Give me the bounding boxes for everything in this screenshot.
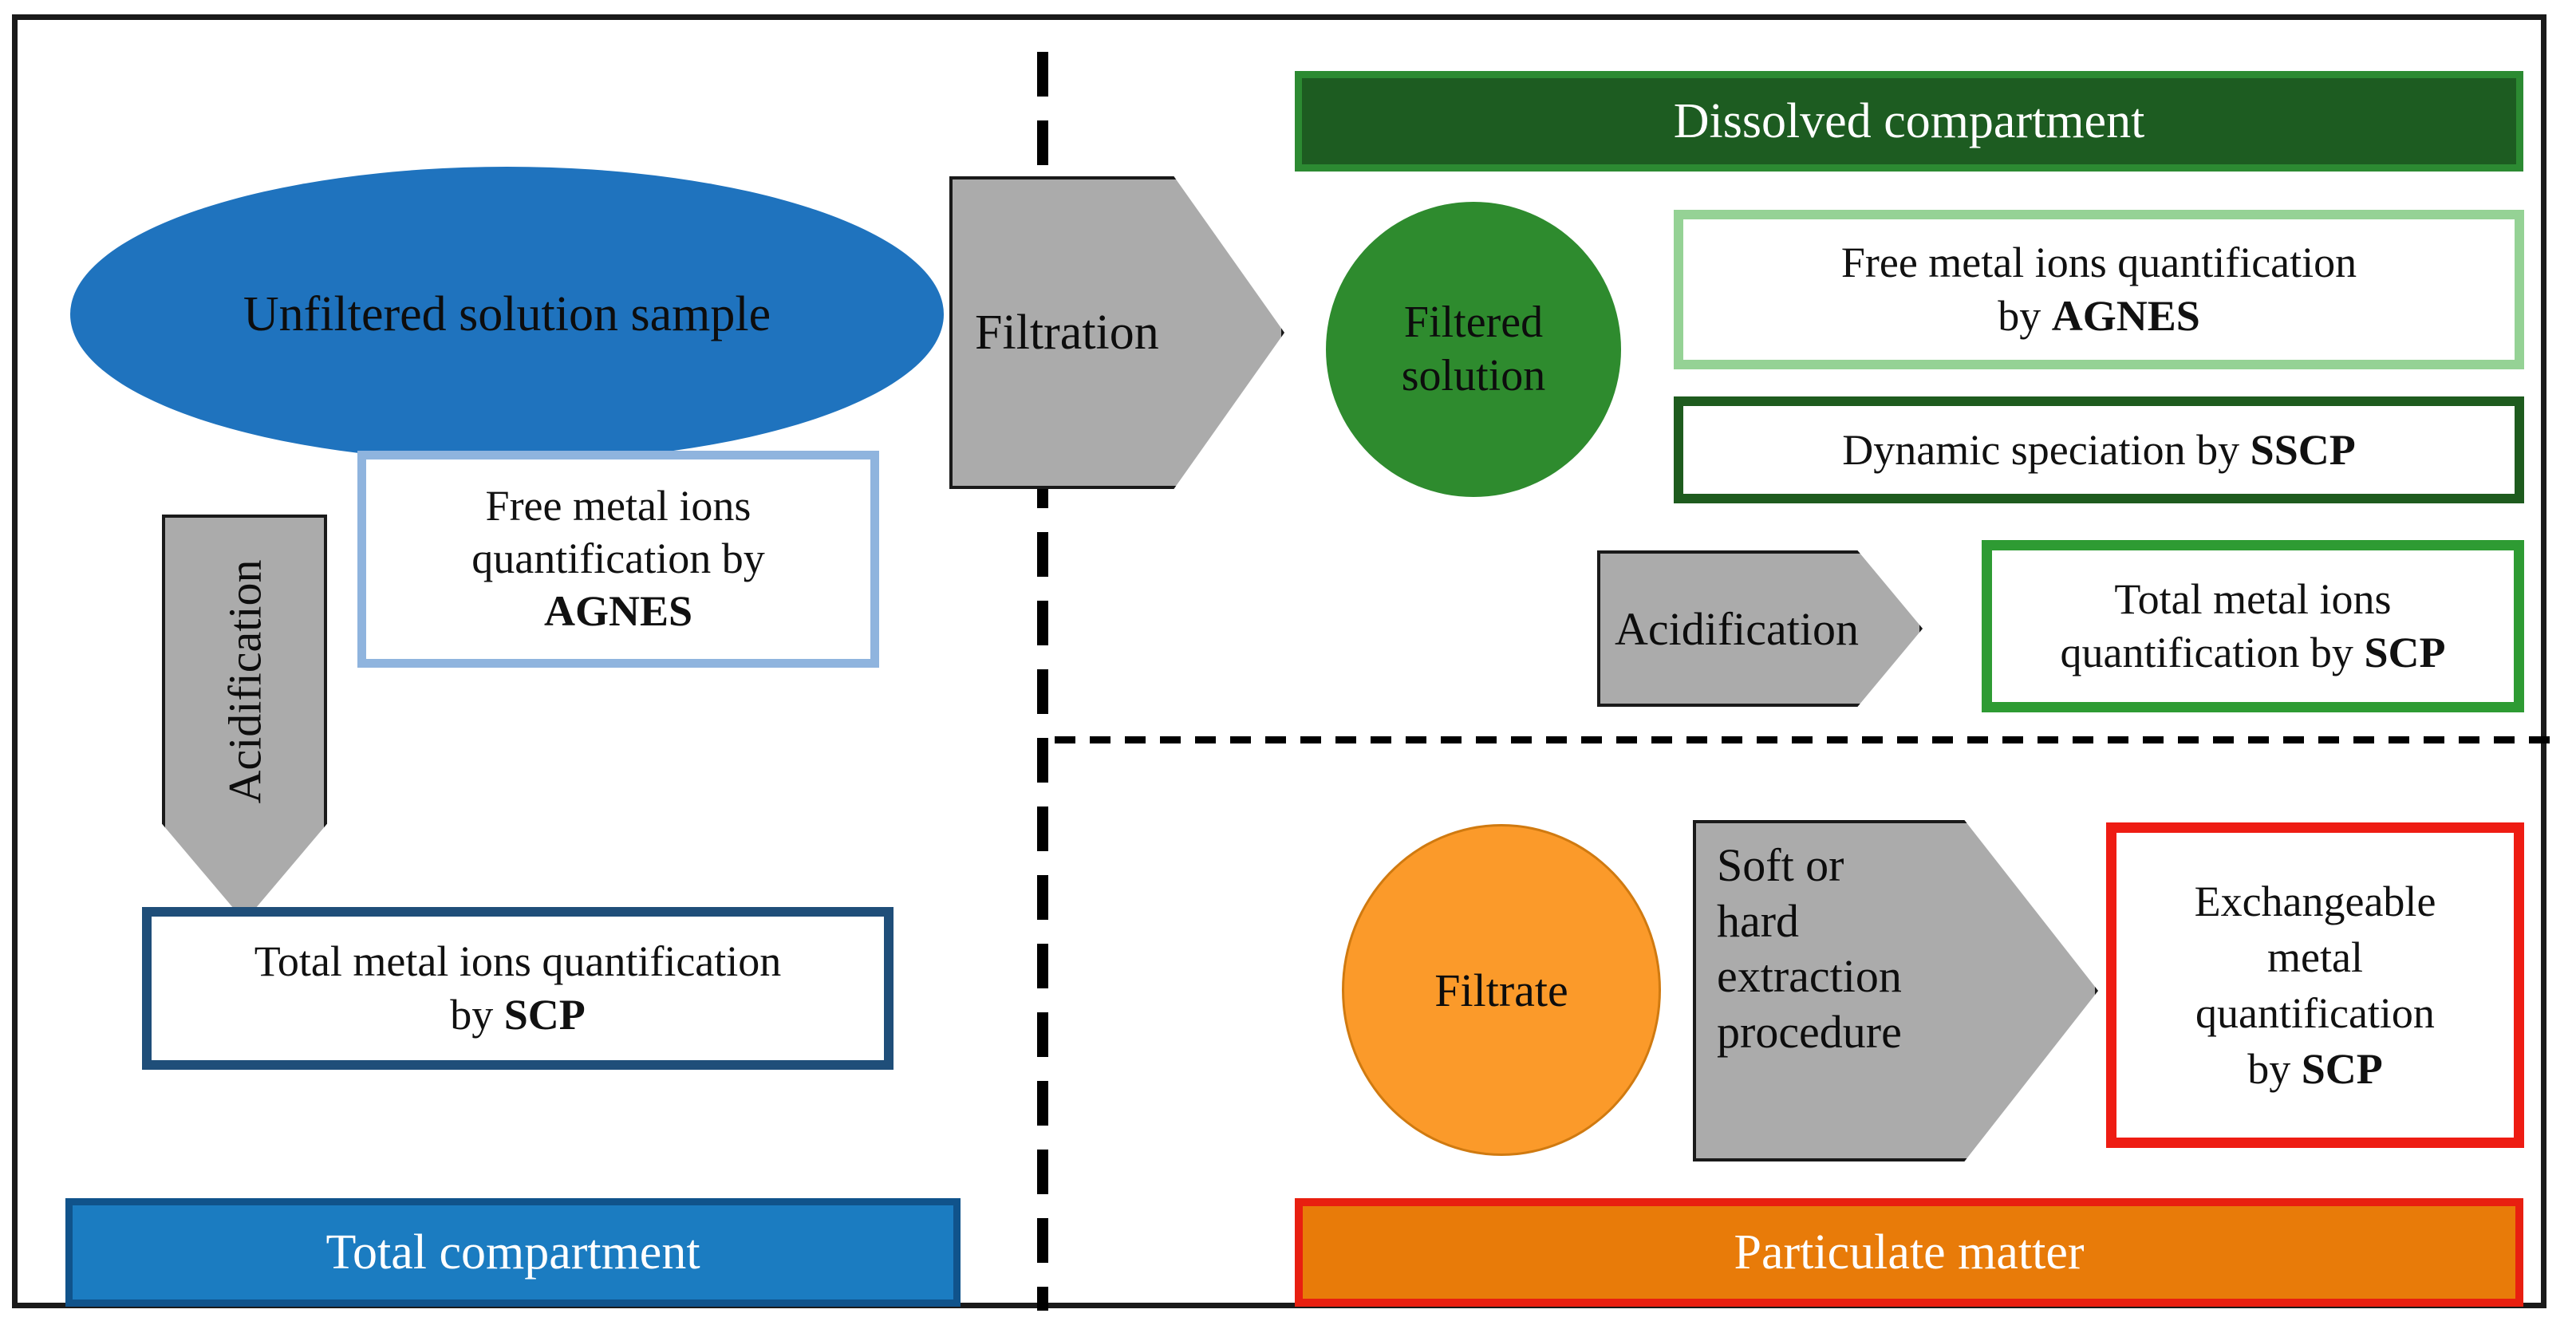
- node-filtrate[interactable]: Filtrate: [1342, 824, 1661, 1156]
- bar-dissolved-compartment-label: Dissolved compartment: [1674, 93, 2145, 150]
- node-filtrate-label: Filtrate: [1434, 964, 1568, 1017]
- bar-particulate-matter[interactable]: Particulate matter: [1295, 1198, 2523, 1307]
- agnes-right-prefix: by: [1998, 292, 2052, 340]
- box-exchangeable-metal-scp[interactable]: Exchangeable metal quantification by SCP: [2106, 822, 2524, 1148]
- scp-left-method: SCP: [504, 991, 586, 1039]
- box-agnes-unfiltered[interactable]: Free metal ions quantification by AGNES: [357, 451, 879, 668]
- extraction-line4: procedure: [1717, 1004, 1902, 1060]
- box-agnes-dissolved[interactable]: Free metal ions quantification by AGNES: [1674, 210, 2524, 369]
- scp-left-line1: Total metal ions quantification: [254, 935, 782, 989]
- arrow-acidification-right-label: Acidification: [1615, 602, 1859, 656]
- box-agnes-dissolved-text: Free metal ions quantification by AGNES: [1841, 236, 2357, 344]
- box-scp-total-dissolved[interactable]: Total metal ions quantification by SCP: [1982, 540, 2524, 712]
- box-scp-total-unfiltered-text: Total metal ions quantification by SCP: [254, 935, 782, 1043]
- exchangeable-line2: metal: [2195, 929, 2436, 985]
- arrow-extraction-procedure-text: Soft or hard extraction procedure: [1717, 838, 1902, 1059]
- scp-right-method: SCP: [2364, 629, 2445, 676]
- exchangeable-line1: Exchangeable: [2195, 874, 2436, 929]
- agnes-left-method: AGNES: [471, 586, 764, 638]
- sscp-prefix: Dynamic speciation by: [1842, 426, 2250, 474]
- extraction-line3: extraction: [1717, 948, 1902, 1004]
- agnes-left-line1: Free metal ions: [471, 480, 764, 533]
- exchangeable-prefix: by: [2247, 1045, 2302, 1093]
- agnes-left-line2: quantification by: [471, 533, 764, 586]
- arrow-filtration-right[interactable]: Filtration: [949, 176, 1284, 489]
- scp-left-prefix: by: [450, 991, 504, 1039]
- box-exchangeable-metal-scp-text: Exchangeable metal quantification by SCP: [2195, 874, 2436, 1098]
- agnes-right-method: AGNES: [2052, 292, 2200, 340]
- node-unfiltered-solution-sample-label: Unfiltered solution sample: [243, 286, 771, 343]
- diagram-canvas: Unfiltered solution sample Free metal io…: [0, 0, 2576, 1333]
- arrow-acidification-right[interactable]: Acidification: [1597, 550, 1923, 707]
- arrow-acidification-down[interactable]: Acidification: [162, 515, 327, 921]
- box-sscp-dynamic-speciation[interactable]: Dynamic speciation by SSCP: [1674, 396, 2524, 503]
- agnes-right-line1: Free metal ions quantification: [1841, 236, 2357, 290]
- arrow-extraction-procedure[interactable]: Soft or hard extraction procedure: [1693, 820, 2098, 1161]
- scp-left-line2: by SCP: [254, 988, 782, 1043]
- scp-right-line2: quantification by SCP: [2061, 626, 2446, 680]
- extraction-line1: Soft or: [1717, 838, 1902, 893]
- scp-right-prefix: quantification by: [2061, 629, 2365, 676]
- scp-right-line1: Total metal ions: [2061, 573, 2446, 627]
- bar-total-compartment-label: Total compartment: [325, 1225, 700, 1281]
- node-filtered-solution-text: Filtered solution: [1402, 296, 1545, 403]
- box-scp-total-unfiltered[interactable]: Total metal ions quantification by SCP: [142, 907, 894, 1070]
- diagram-frame: Unfiltered solution sample Free metal io…: [12, 14, 2546, 1308]
- agnes-right-line2: by AGNES: [1841, 290, 2357, 344]
- node-filtered-solution[interactable]: Filtered solution: [1326, 202, 1621, 497]
- bar-total-compartment[interactable]: Total compartment: [65, 1198, 961, 1307]
- arrow-filtration-right-label: Filtration: [975, 305, 1159, 361]
- box-sscp-text: Dynamic speciation by SSCP: [1842, 425, 2355, 475]
- sscp-method: SSCP: [2251, 426, 2356, 474]
- arrow-acidification-down-label: Acidification: [218, 559, 271, 803]
- exchangeable-line3: quantification: [2195, 985, 2436, 1041]
- filtered-solution-line2: solution: [1402, 349, 1545, 403]
- exchangeable-method: SCP: [2302, 1045, 2383, 1093]
- exchangeable-line4: by SCP: [2195, 1041, 2436, 1097]
- filtered-solution-line1: Filtered: [1402, 296, 1545, 349]
- bar-dissolved-compartment[interactable]: Dissolved compartment: [1295, 71, 2523, 172]
- horizontal-dashed-divider: [1055, 736, 2562, 743]
- box-scp-total-dissolved-text: Total metal ions quantification by SCP: [2061, 573, 2446, 680]
- bar-particulate-matter-label: Particulate matter: [1734, 1225, 2085, 1281]
- node-unfiltered-solution-sample[interactable]: Unfiltered solution sample: [70, 167, 944, 462]
- box-agnes-unfiltered-text: Free metal ions quantification by AGNES: [471, 480, 764, 638]
- extraction-line2: hard: [1717, 893, 1902, 949]
